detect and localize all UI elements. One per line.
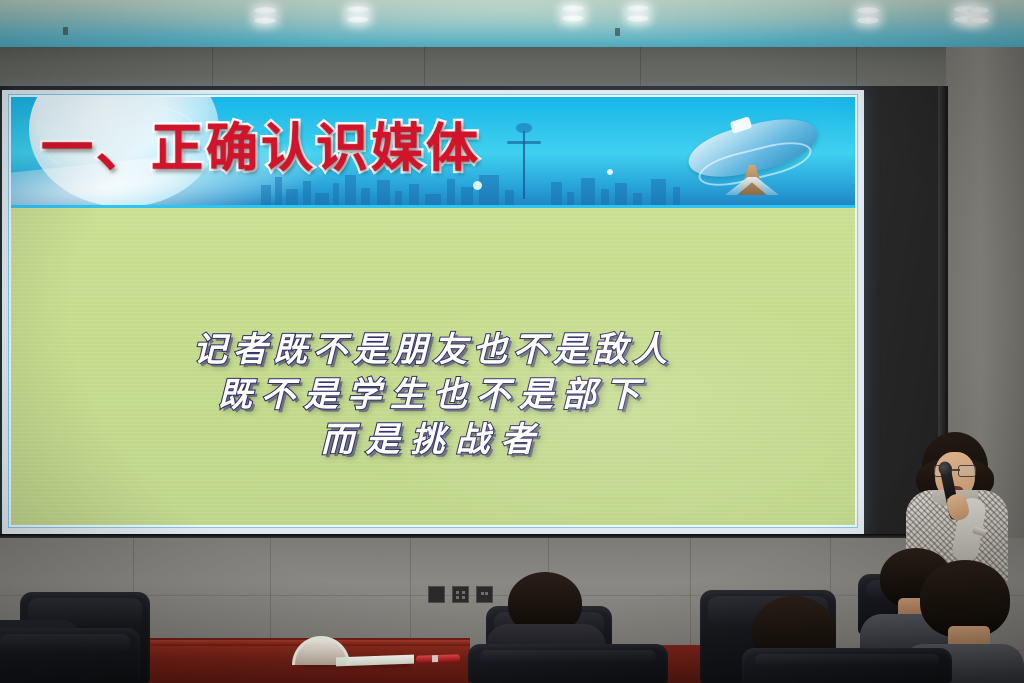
ceiling-sensor-icon	[615, 28, 620, 36]
presentation-slide: 一、正确认识媒体 记者既不是朋友也不是敌人 既不是学生也不是部下 而是挑战者	[11, 97, 855, 525]
open-notebook	[292, 644, 412, 666]
ceiling-sensor-icon	[63, 27, 68, 35]
ceiling-light	[855, 6, 881, 30]
screen-inner-frame: 一、正确认识媒体 记者既不是朋友也不是敌人 既不是学生也不是部下 而是挑战者	[8, 94, 858, 528]
ceiling-light	[560, 4, 586, 28]
satellite-dish-graphic	[679, 115, 829, 199]
projection-screen: 一、正确认识媒体 记者既不是朋友也不是敌人 既不是学生也不是部下 而是挑战者	[2, 90, 864, 534]
conference-room-photo: 一、正确认识媒体 记者既不是朋友也不是敌人 既不是学生也不是部下 而是挑战者	[0, 0, 1024, 683]
slide-body: 记者既不是朋友也不是敌人 既不是学生也不是部下 而是挑战者	[11, 205, 855, 525]
light-dot	[607, 169, 613, 175]
ceiling-light	[625, 4, 651, 28]
ceiling-light	[345, 5, 371, 29]
communication-tower-graphic	[523, 131, 525, 199]
slide-banner: 一、正确认识媒体	[11, 97, 855, 207]
wall-outlet	[428, 586, 445, 603]
wall-outlet	[476, 586, 493, 603]
slide-banner-title: 一、正确认识媒体	[41, 111, 481, 187]
ceiling-light	[252, 6, 278, 30]
upper-wall-band	[0, 47, 1024, 86]
wall-outlet	[452, 586, 469, 603]
chair-foreground	[0, 628, 140, 683]
slide-text-block: 记者既不是朋友也不是敌人 既不是学生也不是部下 而是挑战者	[11, 328, 855, 463]
slide-line-3: 而是挑战者	[11, 418, 855, 463]
chair-foreground	[468, 644, 668, 683]
chair-foreground	[742, 648, 952, 683]
slide-line-2: 既不是学生也不是部下	[11, 373, 855, 418]
ceiling-light	[965, 6, 991, 30]
slide-line-1: 记者既不是朋友也不是敌人	[11, 328, 855, 373]
